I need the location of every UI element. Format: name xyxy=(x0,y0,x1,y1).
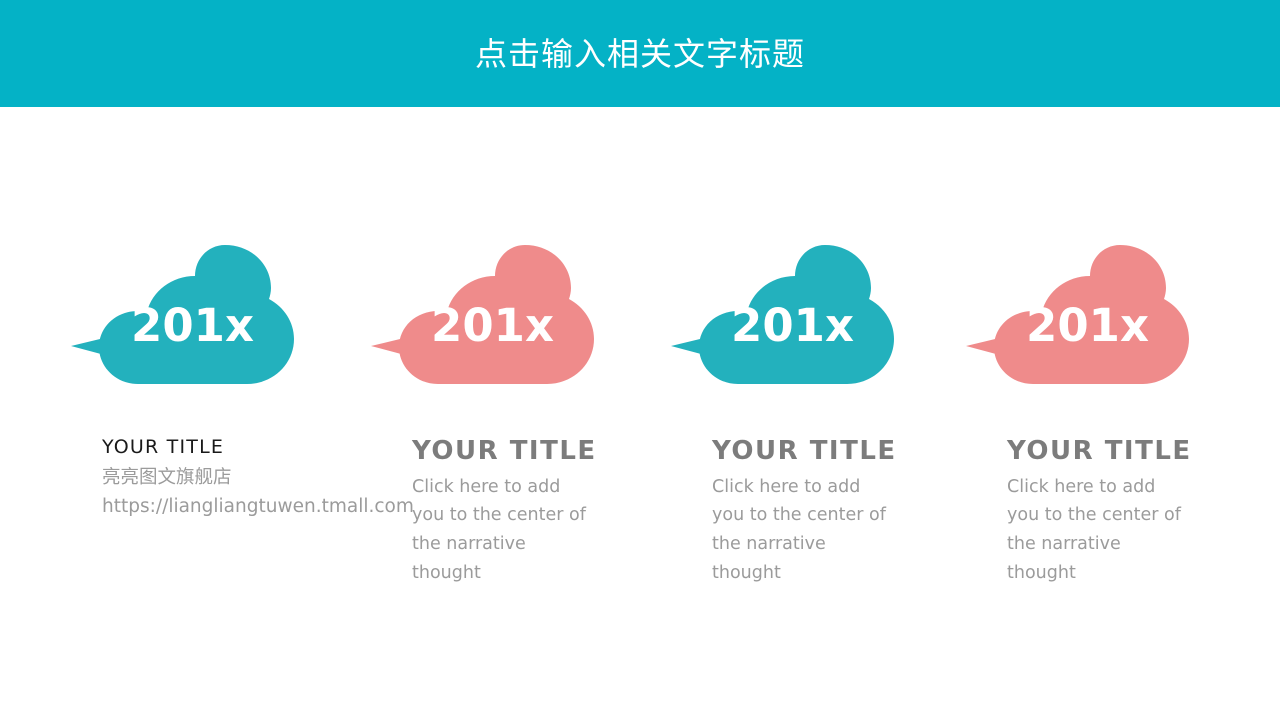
content-column-3: 201x YOUR TITLE Click here to add you to… xyxy=(655,107,955,720)
cloud-speech-bubble-icon xyxy=(55,240,300,392)
shop-name-1: 亮亮图文旗舰店 xyxy=(102,463,352,493)
item-title-4: YOUR TITLE xyxy=(1007,437,1257,466)
content-column-1: 201x YOUR TITLE 亮亮图文旗舰店 https://lianglia… xyxy=(55,107,355,720)
cloud-speech-bubble-icon xyxy=(655,240,900,392)
text-block-1: YOUR TITLE 亮亮图文旗舰店 https://liangliangtuw… xyxy=(102,437,357,522)
page-title: 点击输入相关文字标题 xyxy=(475,38,805,70)
text-block-3: YOUR TITLE Click here to add you to the … xyxy=(712,437,962,588)
cloud-speech-bubble-icon xyxy=(950,240,1195,392)
text-block-4: YOUR TITLE Click here to add you to the … xyxy=(1007,437,1257,588)
item-title-1: YOUR TITLE xyxy=(102,437,357,458)
year-badge-3[interactable]: 201x xyxy=(655,240,900,392)
item-body-3: Click here to add you to the center of t… xyxy=(712,473,897,589)
content-column-4: 201x YOUR TITLE Click here to add you to… xyxy=(950,107,1250,720)
year-badge-4[interactable]: 201x xyxy=(950,240,1195,392)
item-body-2: Click here to add you to the center of t… xyxy=(412,473,597,589)
item-title-2: YOUR TITLE xyxy=(412,437,662,466)
text-block-2: YOUR TITLE Click here to add you to the … xyxy=(412,437,662,588)
year-badge-2[interactable]: 201x xyxy=(355,240,600,392)
item-body-1: 亮亮图文旗舰店 https://liangliangtuwen.tmall.co… xyxy=(102,463,352,522)
item-title-3: YOUR TITLE xyxy=(712,437,962,466)
cloud-speech-bubble-icon xyxy=(355,240,600,392)
shop-url-1: https://liangliangtuwen.tmall.com xyxy=(102,492,352,522)
content-columns: 201x YOUR TITLE 亮亮图文旗舰店 https://lianglia… xyxy=(0,107,1280,720)
content-column-2: 201x YOUR TITLE Click here to add you to… xyxy=(355,107,655,720)
year-badge-1[interactable]: 201x xyxy=(55,240,300,392)
header-bar: 点击输入相关文字标题 xyxy=(0,0,1280,107)
item-body-4: Click here to add you to the center of t… xyxy=(1007,473,1192,589)
